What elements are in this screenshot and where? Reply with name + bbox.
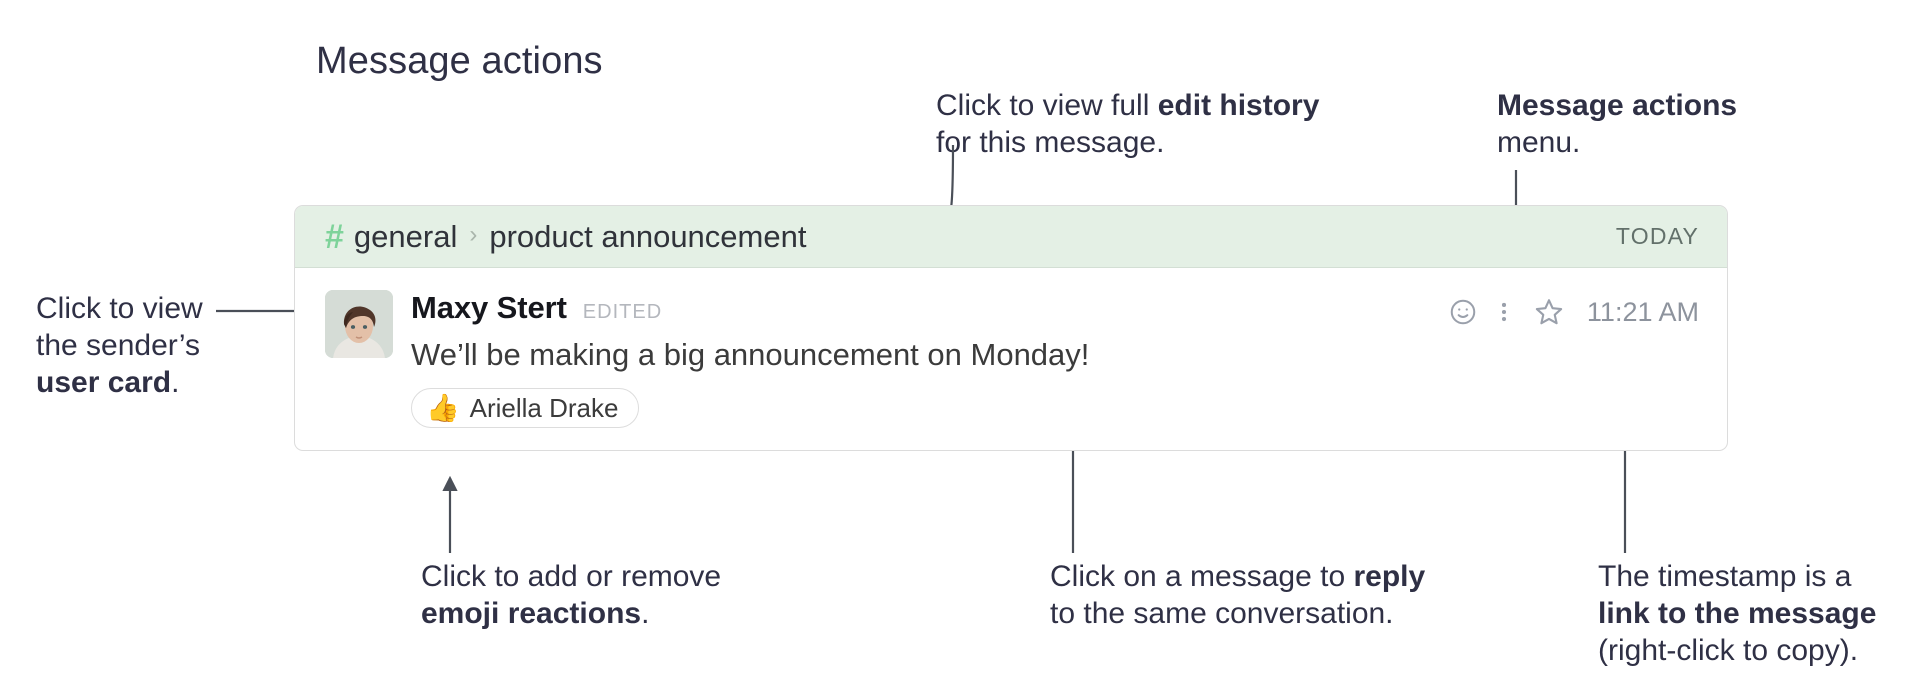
card-header: # general › product announcement TODAY (295, 206, 1727, 268)
annotation-user-card-line2: the sender’s (36, 327, 203, 364)
annotation-user-card: Click to view the sender’s user card. (36, 290, 203, 401)
annotation-timestamp-bold: link to the message (1598, 597, 1876, 630)
annotation-actions-menu: Message actions menu. (1497, 87, 1737, 161)
date-label: TODAY (1616, 223, 1699, 250)
annotation-emoji-line1: Click to add or remove (421, 558, 721, 595)
annotation-actions-menu-bold: Message actions (1497, 89, 1737, 122)
message-timestamp[interactable]: 11:21 AM (1587, 297, 1699, 328)
thumbs-up-emoji: 👍 (426, 395, 460, 422)
message-body[interactable]: We’ll be making a big announcement on Mo… (411, 336, 1699, 374)
card-body[interactable]: Maxy Stert EDITED We’ll be making a big … (295, 268, 1727, 450)
hash-icon: # (325, 220, 344, 254)
annotation-reply-prefix: Click on a message to (1050, 560, 1353, 593)
message-actions-bar: 11:21 AM (1441, 294, 1699, 330)
star-icon[interactable] (1523, 294, 1575, 330)
message-actions-menu-icon[interactable] (1485, 294, 1523, 330)
emoji-reaction-icon[interactable] (1441, 294, 1485, 330)
annotation-timestamp-link: The timestamp is a link to the message (… (1598, 558, 1876, 669)
annotation-edit-history-prefix: Click to view full (936, 89, 1158, 122)
reactions-row: 👍 Ariella Drake (411, 388, 1699, 428)
annotation-edit-history-line2: for this message. (936, 124, 1319, 161)
annotation-user-card-line1: Click to view (36, 290, 203, 327)
sender-name[interactable]: Maxy Stert (411, 290, 567, 326)
message-card: # general › product announcement TODAY (294, 205, 1728, 451)
annotation-actions-menu-line2: menu. (1497, 124, 1737, 161)
message-row[interactable]: Maxy Stert EDITED We’ll be making a big … (325, 290, 1699, 374)
reaction-label: Ariella Drake (470, 393, 619, 424)
annotation-reply-line2: to the same conversation. (1050, 595, 1425, 632)
annotation-reply: Click on a message to reply to the same … (1050, 558, 1425, 632)
annotation-emoji-bold: emoji reactions (421, 597, 641, 630)
edited-badge[interactable]: EDITED (583, 301, 662, 324)
annotation-reply-bold: reply (1353, 560, 1425, 593)
page-title: Message actions (316, 40, 603, 83)
annotation-edit-history: Click to view full edit history for this… (936, 87, 1319, 161)
reaction-pill[interactable]: 👍 Ariella Drake (411, 388, 639, 428)
chevron-right-icon: › (469, 221, 477, 249)
annotation-timestamp-line3: (right-click to copy). (1598, 632, 1876, 669)
breadcrumb-topic[interactable]: product announcement (489, 219, 806, 255)
annotation-user-card-suffix: . (171, 366, 179, 399)
breadcrumb-stream[interactable]: general (354, 219, 457, 255)
annotation-emoji-reactions: Click to add or remove emoji reactions. (421, 558, 721, 632)
annotation-edit-history-bold: edit history (1158, 89, 1320, 122)
annotation-emoji-suffix: . (641, 597, 649, 630)
avatar[interactable] (325, 290, 393, 358)
annotation-user-card-bold: user card (36, 366, 171, 399)
annotation-timestamp-line1: The timestamp is a (1598, 558, 1876, 595)
